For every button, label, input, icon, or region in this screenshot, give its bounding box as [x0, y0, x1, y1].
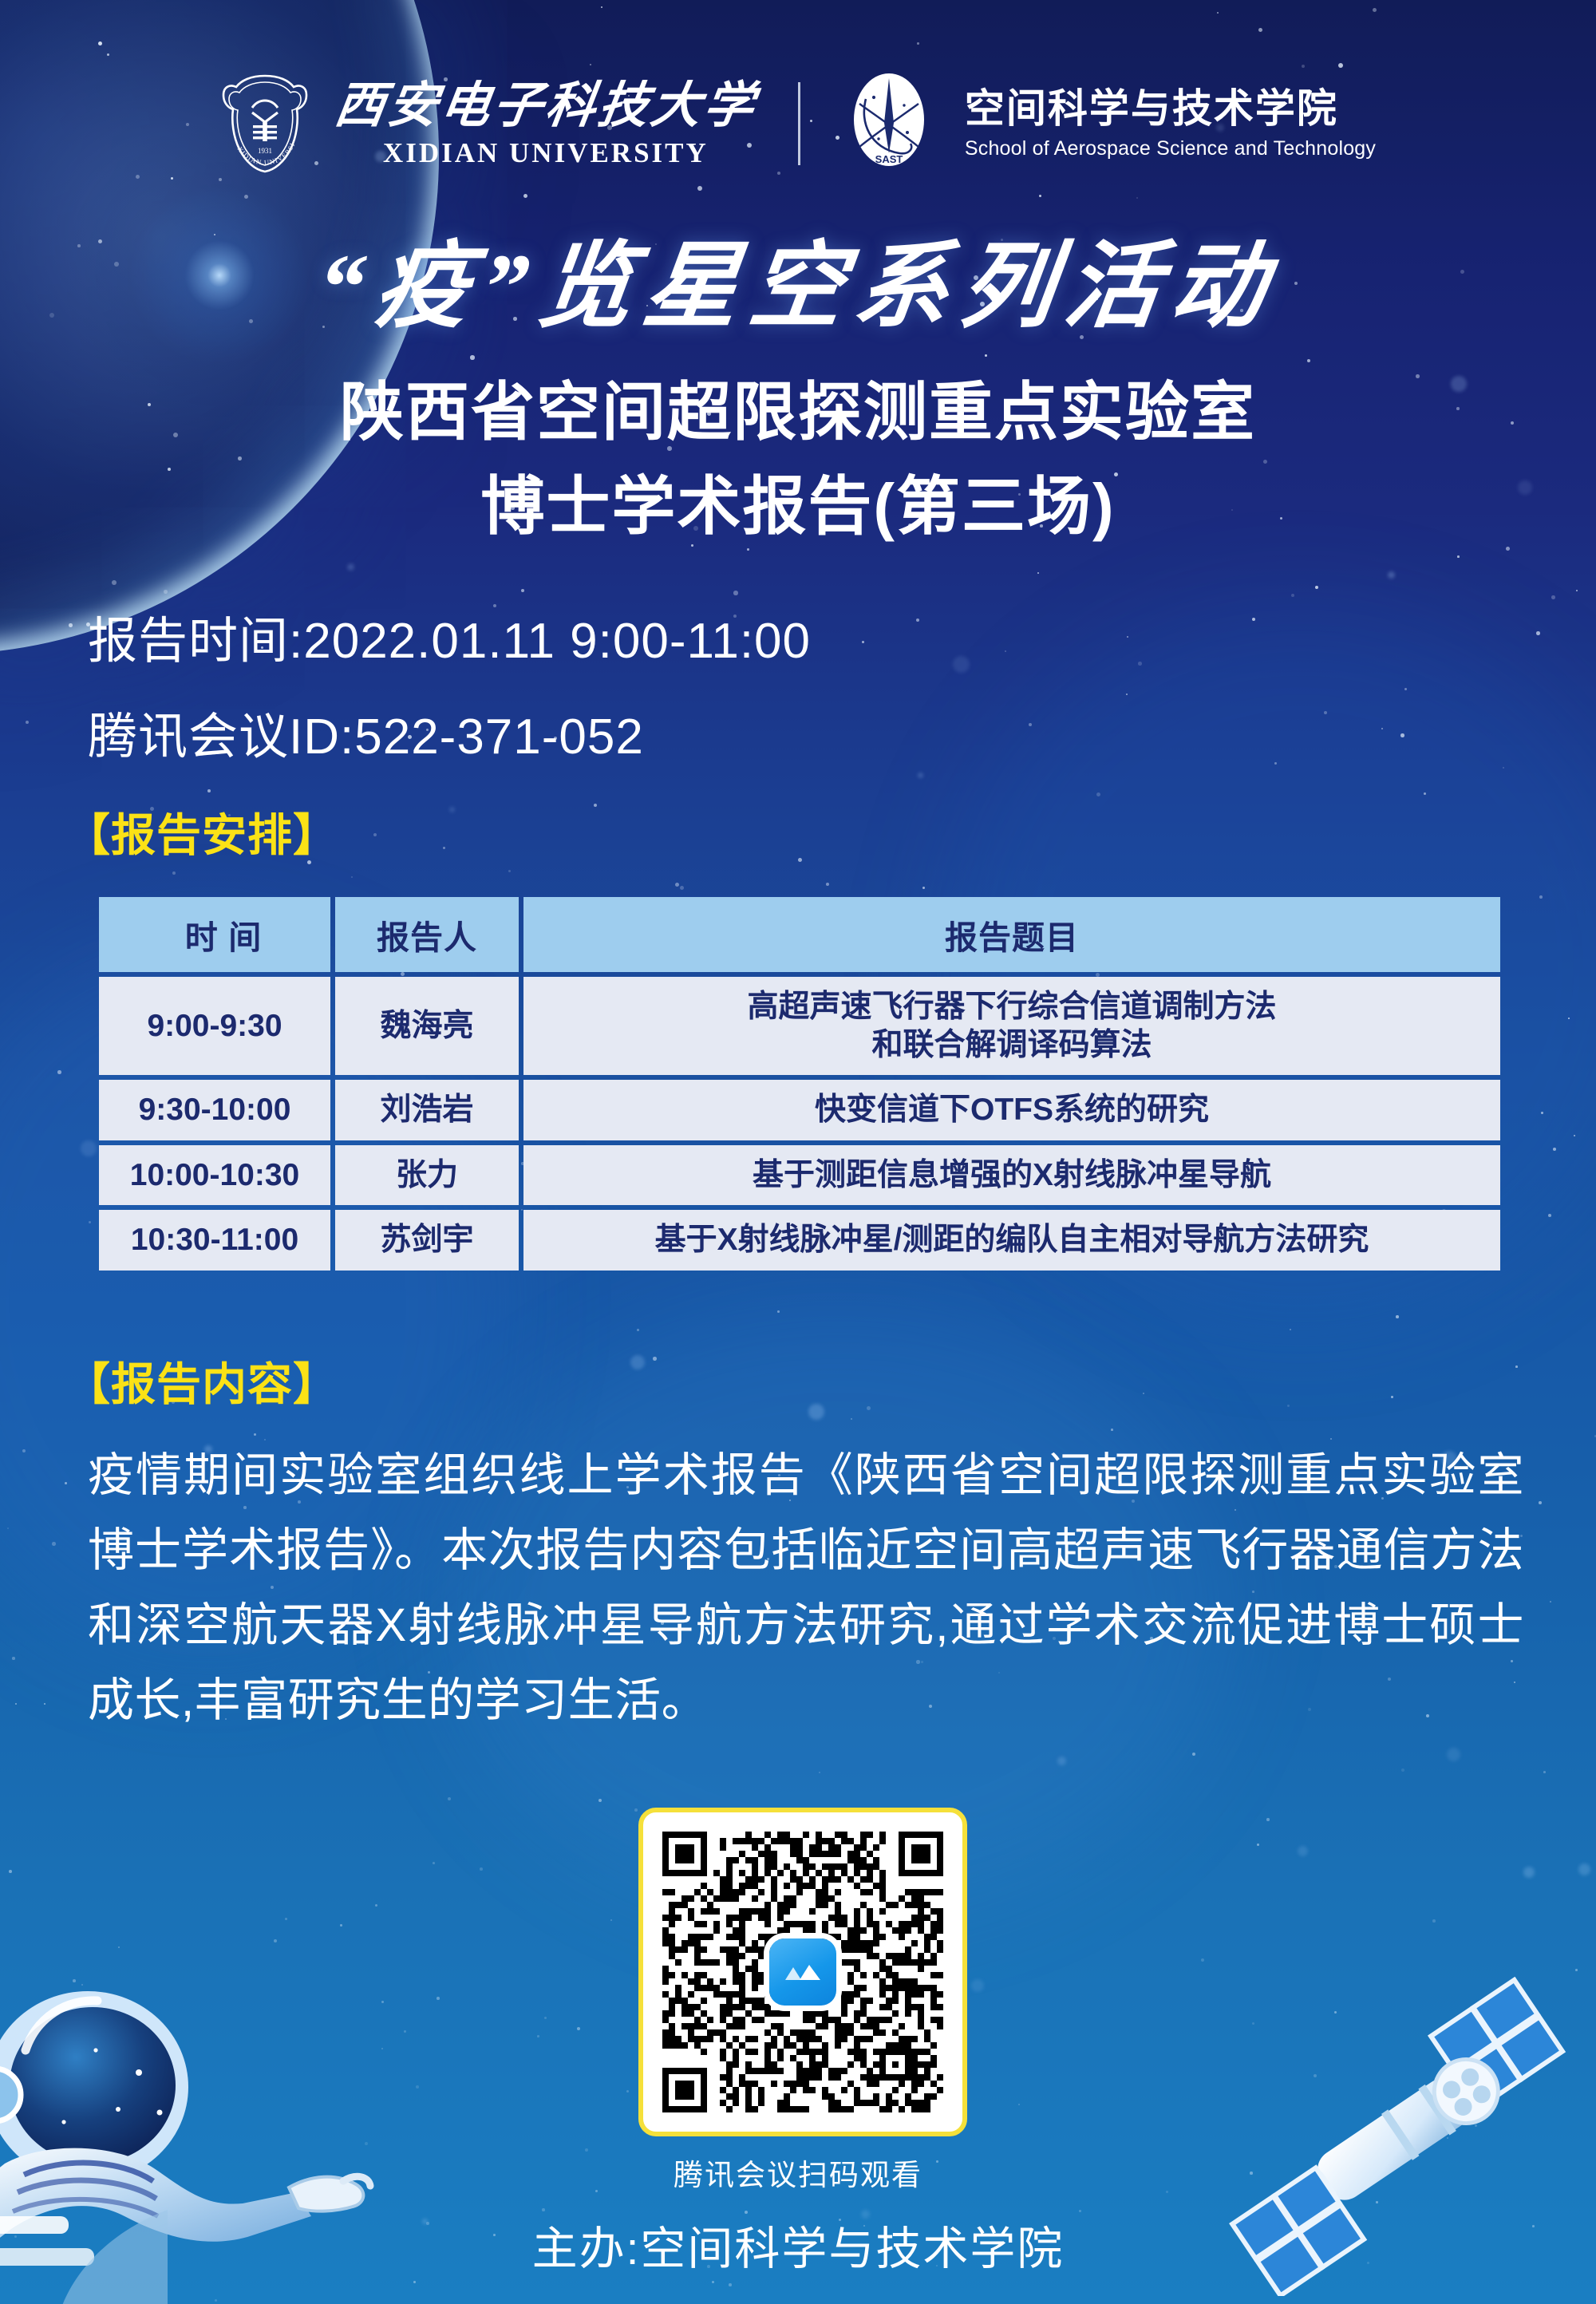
series-title-calligraphy: “疫”览星空系列活动 [0, 209, 1596, 346]
cell-time: 10:00-10:30 [99, 1145, 330, 1206]
column-header-time: 时 间 [99, 897, 330, 972]
university-name-cn: 西安电子科技大学 [332, 81, 760, 131]
column-header-title: 报告题目 [523, 897, 1500, 972]
xidian-wordmark: 西安电子科技大学 XIDIAN UNIVERSITY [335, 81, 757, 167]
university-name-en: XIDIAN UNIVERSITY [383, 139, 709, 167]
cell-title-line1: 基于X射线脉冲星/测距的编队自主相对导航方法研究 [528, 1221, 1495, 1259]
satellite-illustration [1205, 1977, 1588, 2296]
main-title-line1: 陕西省空间超限探测重点实验室 [0, 361, 1596, 453]
logo-bar: 1931 XIDIAN UNIVERSITY 西安电子科技大学 XIDIAN U… [0, 70, 1596, 177]
schedule-table: 时 间 报告人 报告题目 9:00-9:30魏海亮高超声速飞行器下行综合信道调制… [94, 892, 1505, 1275]
cell-time: 10:30-11:00 [99, 1210, 330, 1271]
school-name-en: School of Aerospace Science and Technolo… [965, 139, 1376, 159]
cell-title-line1: 快变信道下OTFS系统的研究 [528, 1091, 1495, 1129]
table-row: 9:00-9:30魏海亮高超声速飞行器下行综合信道调制方法和联合解调译码算法 [99, 977, 1500, 1075]
sast-mark-label: SAST [875, 153, 903, 165]
astronaut-illustration [0, 1953, 415, 2304]
schedule-heading: 【报告安排】 [65, 800, 338, 864]
table-row: 9:30-10:00刘浩岩快变信道下OTFS系统的研究 [99, 1080, 1500, 1140]
cell-title-line1: 基于测距信息增强的X射线脉冲星导航 [528, 1156, 1495, 1195]
column-header-speaker: 报告人 [335, 897, 519, 972]
table-header-row: 时 间 报告人 报告题目 [99, 897, 1500, 972]
content-paragraph: 疫情期间实验室组织线上学术报告《陕西省空间超限探测重点实验室博士学术报告》。本次… [88, 1438, 1524, 1738]
cell-speaker: 魏海亮 [335, 977, 519, 1075]
xidian-seal-icon: 1931 XIDIAN UNIVERSITY [220, 73, 310, 175]
tencent-meeting-icon [769, 1938, 836, 2006]
meeting-id: 腾讯会议ID:522-371-052 [88, 696, 644, 768]
school-name-cn: 空间科学与技术学院 [965, 89, 1376, 128]
report-time: 报告时间:2022.01.11 9:00-11:00 [88, 600, 811, 672]
cell-title-line2: 和联合解调译码算法 [528, 1026, 1495, 1065]
cell-title: 基于测距信息增强的X射线脉冲星导航 [523, 1145, 1500, 1206]
qr-code[interactable] [638, 1808, 967, 2136]
cell-title: 高超声速飞行器下行综合信道调制方法和联合解调译码算法 [523, 977, 1500, 1075]
cell-time: 9:00-9:30 [99, 977, 330, 1075]
cell-title: 基于X射线脉冲星/测距的编队自主相对导航方法研究 [523, 1210, 1500, 1271]
table-row: 10:00-10:30张力基于测距信息增强的X射线脉冲星导航 [99, 1145, 1500, 1206]
cell-title: 快变信道下OTFS系统的研究 [523, 1080, 1500, 1140]
cell-title-line1: 高超声速飞行器下行综合信道调制方法 [528, 988, 1495, 1026]
main-title-line2: 博士学术报告(第三场) [0, 455, 1596, 547]
cell-time: 9:30-10:00 [99, 1080, 330, 1140]
sast-emblem-icon: SAST [842, 70, 936, 177]
sast-wordmark: 空间科学与技术学院 School of Aerospace Science an… [965, 89, 1376, 159]
table-row: 10:30-11:00苏剑宇基于X射线脉冲星/测距的编队自主相对导航方法研究 [99, 1210, 1500, 1271]
content-heading: 【报告内容】 [65, 1349, 338, 1413]
poster-root: 1931 XIDIAN UNIVERSITY 西安电子科技大学 XIDIAN U… [0, 0, 1596, 2304]
cell-speaker: 张力 [335, 1145, 519, 1206]
logo-divider [798, 82, 800, 165]
seal-year: 1931 [258, 147, 272, 155]
cell-speaker: 苏剑宇 [335, 1210, 519, 1271]
cell-speaker: 刘浩岩 [335, 1080, 519, 1140]
